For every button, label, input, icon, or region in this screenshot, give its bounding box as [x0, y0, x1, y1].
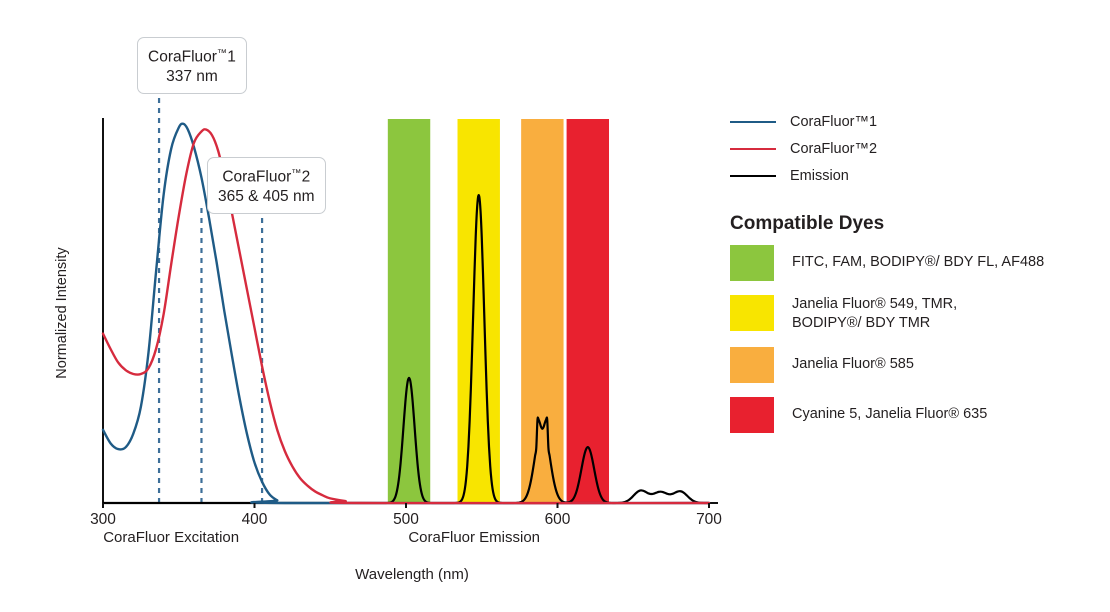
green-band: [388, 119, 430, 503]
dye-legend-label: Janelia Fluor® 585: [792, 347, 914, 374]
dye-legend-row-1: FITC, FAM, BODIPY®/ BDY FL, AF488: [730, 245, 1100, 281]
dye-color-swatch: [730, 245, 774, 281]
x-axis-title: Wavelength (nm): [0, 566, 824, 583]
compatible-dyes-legend: FITC, FAM, BODIPY®/ BDY FL, AF488Janelia…: [730, 245, 1100, 433]
dye-legend-label: FITC, FAM, BODIPY®/ BDY FL, AF488: [792, 245, 1044, 272]
dye-color-swatch: [730, 397, 774, 433]
line-legend: CoraFluor™1CoraFluor™2Emission: [730, 108, 1100, 189]
x-tick-label-500: 500: [376, 511, 436, 529]
dye-legend-row-3: Janelia Fluor® 585: [730, 347, 1100, 383]
dye-color-swatch: [730, 295, 774, 331]
x-tick-label-300: 300: [73, 511, 133, 529]
legend-line-label: Emission: [790, 168, 849, 184]
dye-label-line1: Janelia Fluor® 549, TMR,: [792, 295, 957, 314]
dye-legend-label: Cyanine 5, Janelia Fluor® 635: [792, 397, 987, 424]
legend-line-row-2: CoraFluor™2: [730, 135, 1100, 162]
excitation-region-label: CoraFluor Excitation: [71, 529, 271, 546]
x-tick-label-400: 400: [225, 511, 285, 529]
callout-cf1-line2: 337 nm: [148, 67, 236, 86]
dye-label-line2: BODIPY®/ BDY TMR: [792, 314, 957, 333]
callout-cf1-line1: CoraFluor™1: [148, 44, 236, 67]
yellow-band: [458, 119, 500, 503]
x-tick-label-600: 600: [528, 511, 588, 529]
callout-cf2-line1: CoraFluor™2: [218, 164, 315, 187]
x-tick-label-700: 700: [679, 511, 739, 529]
orange-band: [521, 119, 563, 503]
legend-line-swatch: [730, 175, 776, 177]
red-band: [567, 119, 609, 503]
dye-legend-row-4: Cyanine 5, Janelia Fluor® 635: [730, 397, 1100, 433]
y-axis-title: Normalized Intensity: [54, 213, 70, 413]
callout-corafluor2: CoraFluor™2 365 & 405 nm: [207, 157, 326, 214]
callout-corafluor1: CoraFluor™1 337 nm: [137, 37, 247, 94]
emission-region-label: CoraFluor Emission: [374, 529, 574, 546]
legend-line-row-3: Emission: [730, 162, 1100, 189]
compatible-dyes-title: Compatible Dyes: [730, 213, 1100, 235]
legend-line-label: CoraFluor™2: [790, 141, 877, 157]
legend-line-swatch: [730, 121, 776, 123]
dye-legend-row-2: Janelia Fluor® 549, TMR,BODIPY®/ BDY TMR: [730, 295, 1100, 333]
dye-color-swatch: [730, 347, 774, 383]
spectra-figure: CoraFluor™1 337 nm CoraFluor™2 365 & 405…: [0, 0, 1110, 612]
legend-panel: CoraFluor™1CoraFluor™2Emission Compatibl…: [730, 108, 1100, 447]
legend-line-label: CoraFluor™1: [790, 114, 877, 130]
dye-legend-label: Janelia Fluor® 549, TMR,BODIPY®/ BDY TMR: [792, 295, 957, 333]
legend-line-swatch: [730, 148, 776, 150]
legend-line-row-1: CoraFluor™1: [730, 108, 1100, 135]
callout-cf2-line2: 365 & 405 nm: [218, 187, 315, 206]
